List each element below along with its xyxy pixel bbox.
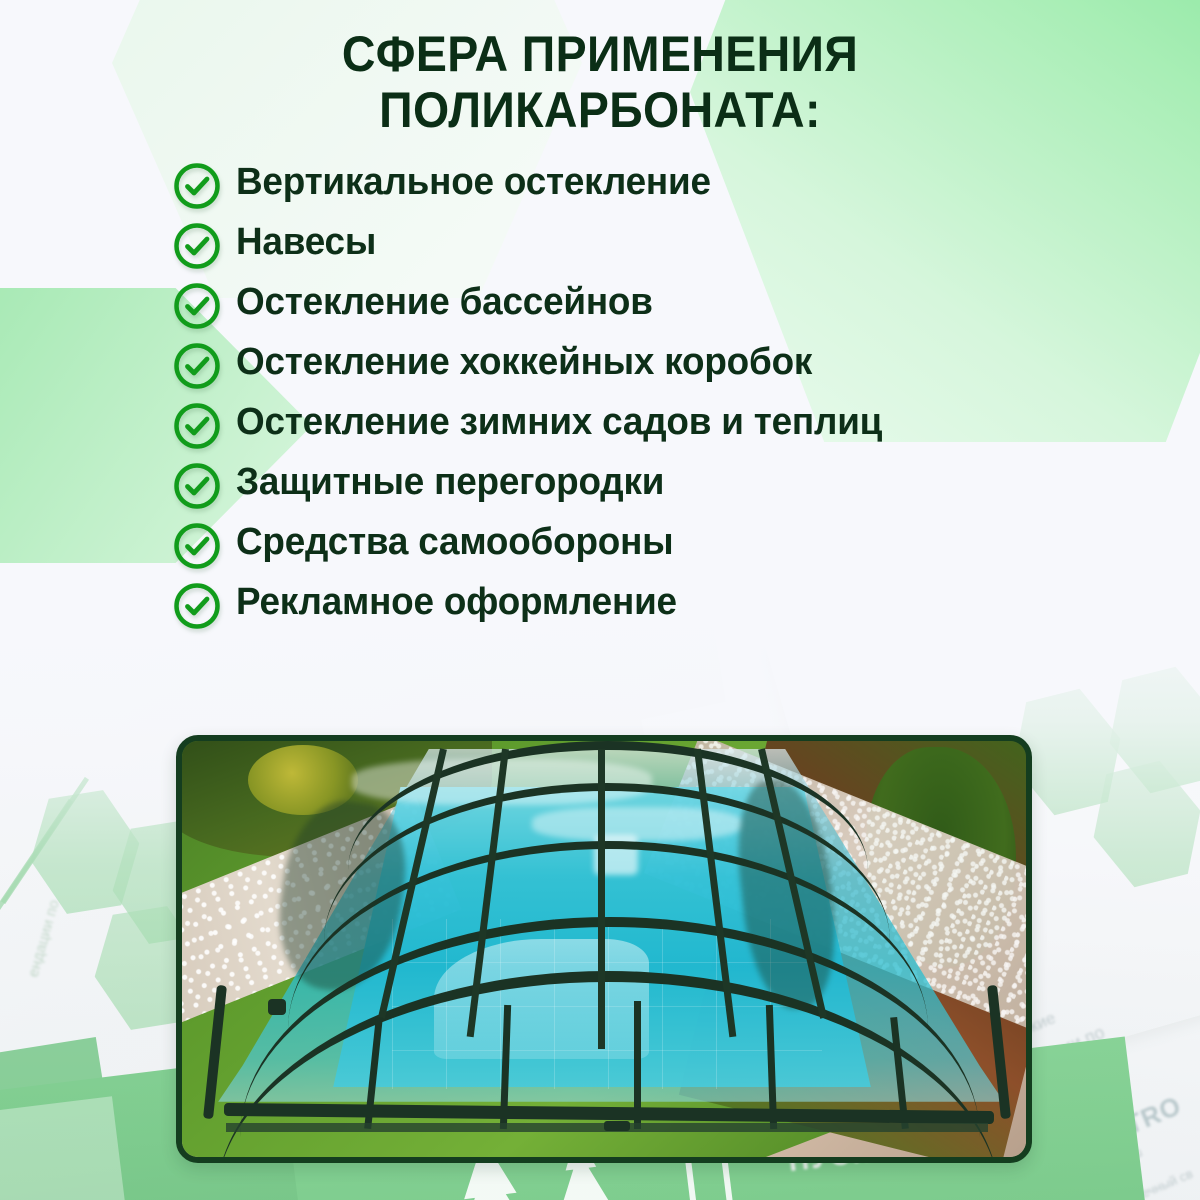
photo-enclosure-handle [268,999,286,1015]
list-item-label: Остекление хоккейных коробок [236,340,812,385]
list-item-label: Средства самообороны [236,520,673,565]
photo-enclosure [202,749,1012,1149]
list-item-label: Вертикальное остекление [236,160,711,205]
check-circle-icon [172,341,222,391]
pool-enclosure-photo-content [182,741,1026,1157]
pool-enclosure-photo [176,735,1032,1163]
list-item: Остекление хоккейных коробок [172,340,1072,391]
list-item: Вертикальное остекление [172,160,1072,211]
photo-enclosure-latch [604,1121,630,1131]
list-item: Остекление зимних садов и теплиц [172,400,1072,451]
check-circle-icon [172,221,222,271]
poster-canvas: ендации по ткие ендации по тажу листов о… [0,0,1200,1200]
check-circle-icon [172,521,222,571]
list-item: Остекление бассейнов [172,280,1072,331]
list-item: Рекламное оформление [172,580,1072,631]
feature-list: Вертикальное остекление Навесы Остеклени… [172,160,1072,640]
check-circle-icon [172,581,222,631]
check-circle-icon [172,461,222,511]
check-circle-icon [172,281,222,331]
list-item: Навесы [172,220,1072,271]
page-title-line-1: СФЕРА ПРИМЕНЕНИЯ [42,26,1158,82]
photo-enclosure-rib [598,749,605,1049]
list-item-label: Защитные перегородки [236,460,664,505]
list-item: Защитные перегородки [172,460,1072,511]
list-item-label: Остекление зимних садов и теплиц [236,400,882,445]
list-item-label: Рекламное оформление [236,580,677,625]
check-circle-icon [172,161,222,211]
list-item-label: Навесы [236,220,376,265]
list-item: Средства самообороны [172,520,1072,571]
page-title-line-2: ПОЛИКАРБОНАТА: [42,82,1158,138]
page-title: СФЕРА ПРИМЕНЕНИЯ ПОЛИКАРБОНАТА: [42,26,1158,138]
check-circle-icon [172,401,222,451]
list-item-label: Остекление бассейнов [236,280,653,325]
